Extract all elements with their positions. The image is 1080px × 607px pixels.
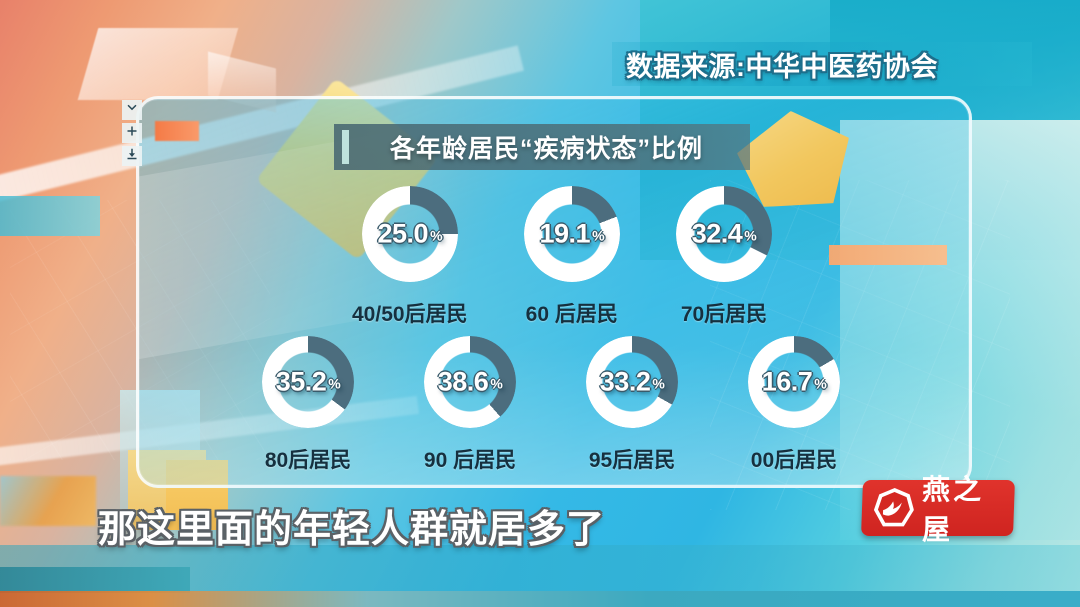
donut-label: 80后居民 [265,444,351,474]
percent-symbol: % [744,228,756,244]
subtitle-caption: 那这里面的年轻人群就居多了 [98,498,698,553]
donut-value: 32.4% [692,219,757,250]
donut-chart: 32.4% [676,186,772,282]
add-button[interactable] [122,123,142,143]
donut-value-number: 32.4 [692,219,743,249]
donut-label: 90 后居民 [424,444,516,474]
donut-label: 40/50后居民 [352,298,468,328]
donut-value: 16.7% [762,367,827,398]
donut-cell: 19.1%60 后居民 [524,186,620,328]
donut-chart: 25.0% [362,186,458,282]
chevron-down-button[interactable] [122,100,142,120]
data-source-text: 数据来源:中华中医药协会 [612,45,938,84]
donut-value-number: 25.0 [378,219,429,249]
chevron-down-icon [126,101,138,119]
donut-value: 25.0% [378,219,443,250]
donut-chart: 33.2% [586,336,678,428]
donut-label: 00后居民 [751,444,837,474]
donut-row-bottom: 35.2%80后居民38.6%90 后居民33.2%95后居民16.7%00后居… [262,336,840,474]
donut-cell: 32.4%70后居民 [676,186,772,328]
percent-symbol: % [328,376,340,392]
donut-chart: 35.2% [262,336,354,428]
mini-toolbar [122,100,142,166]
background-bottom-strip [0,591,1080,607]
chart-title-banner: 各年龄居民“疾病状态”比例 [334,124,750,170]
donut-value-number: 38.6 [438,367,489,397]
download-icon [126,147,138,165]
screenshot-stage: 数据来源:中华中医药协会 各年龄居民“疾病状态”比例 25.0%40/50后居民… [0,0,1080,607]
donut-value-number: 19.1 [540,219,591,249]
donut-chart: 16.7% [748,336,840,428]
percent-symbol: % [490,376,502,392]
donut-chart: 38.6% [424,336,516,428]
percent-symbol: % [430,228,442,244]
donut-label: 70后居民 [681,298,767,328]
donut-cell: 33.2%95后居民 [586,336,678,474]
panel-orange-tab [155,121,199,141]
donut-chart: 19.1% [524,186,620,282]
chart-title: 各年龄居民“疾病状态”比例 [349,129,750,165]
title-accent-bar [342,130,349,164]
background-bottom-teal-slab [0,567,190,593]
donut-value-number: 35.2 [276,367,327,397]
swallow-emblem-icon [873,488,914,528]
background-orange-block [0,476,96,526]
donut-label: 60 后居民 [526,298,618,328]
background-teal-slab [0,196,100,236]
donut-value: 19.1% [540,219,605,250]
donut-cell: 25.0%40/50后居民 [352,186,468,328]
donut-label: 95后居民 [589,444,675,474]
donut-value: 35.2% [276,367,341,398]
plus-icon [126,124,138,142]
donut-cell: 38.6%90 后居民 [424,336,516,474]
percent-symbol: % [592,228,604,244]
percent-symbol: % [652,376,664,392]
brand-name: 燕之屋 [922,468,1002,548]
data-source-banner: 数据来源:中华中医药协会 [612,42,1032,86]
panel-orange-bar-1 [829,245,947,265]
donut-row-top: 25.0%40/50后居民19.1%60 后居民32.4%70后居民 [352,186,772,328]
donut-cell: 35.2%80后居民 [262,336,354,474]
percent-symbol: % [814,376,826,392]
donut-cell: 16.7%00后居民 [748,336,840,474]
donut-value: 38.6% [438,367,503,398]
download-button[interactable] [122,146,142,166]
donut-value-number: 16.7 [762,367,813,397]
donut-value-number: 33.2 [600,367,651,397]
brand-badge: 燕之屋 [861,480,1015,536]
donut-value: 33.2% [600,367,665,398]
